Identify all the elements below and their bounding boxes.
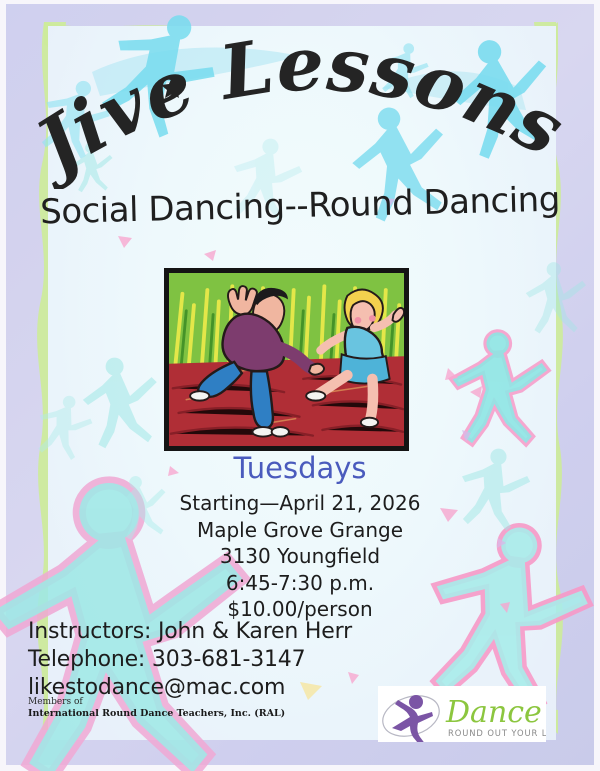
flyer-page: Jive Lessons Social Dancing--Round Danci… — [0, 0, 600, 771]
membership-organization: International Round Dance Teachers, Inc.… — [28, 708, 358, 720]
dancers-illustration — [164, 268, 409, 451]
detail-venue: Maple Grove Grange — [0, 517, 600, 544]
membership-note: Members of International Round Dance Tea… — [28, 697, 358, 720]
contact-block: Instructors: John & Karen Herr Telephone… — [28, 618, 428, 702]
flyer-title: Jive Lessons — [0, 34, 600, 189]
dance-logo: Dance ROUND OUT YOUR LIFE™ — [378, 686, 546, 742]
detail-address: 3130 Youngfield — [0, 543, 600, 570]
contact-instructors: Instructors: John & Karen Herr — [28, 618, 428, 646]
event-day-heading: Tuesdays — [0, 454, 600, 483]
detail-time: 6:45-7:30 p.m. — [0, 570, 600, 597]
membership-label: Members of — [28, 697, 358, 708]
detail-start-date: Starting—April 21, 2026 — [0, 490, 600, 517]
logo-tagline: ROUND OUT YOUR LIFE™ — [448, 728, 546, 738]
event-details: Tuesdays Starting—April 21, 2026 Maple G… — [0, 454, 600, 623]
logo-dancer-icon — [392, 695, 433, 742]
svg-text:Jive Lessons: Jive Lessons — [12, 34, 579, 189]
logo-wordmark: Dance — [445, 695, 542, 730]
flyer-title-text: Jive Lessons — [12, 34, 579, 189]
contact-telephone: Telephone: 303-681-3147 — [28, 646, 428, 674]
